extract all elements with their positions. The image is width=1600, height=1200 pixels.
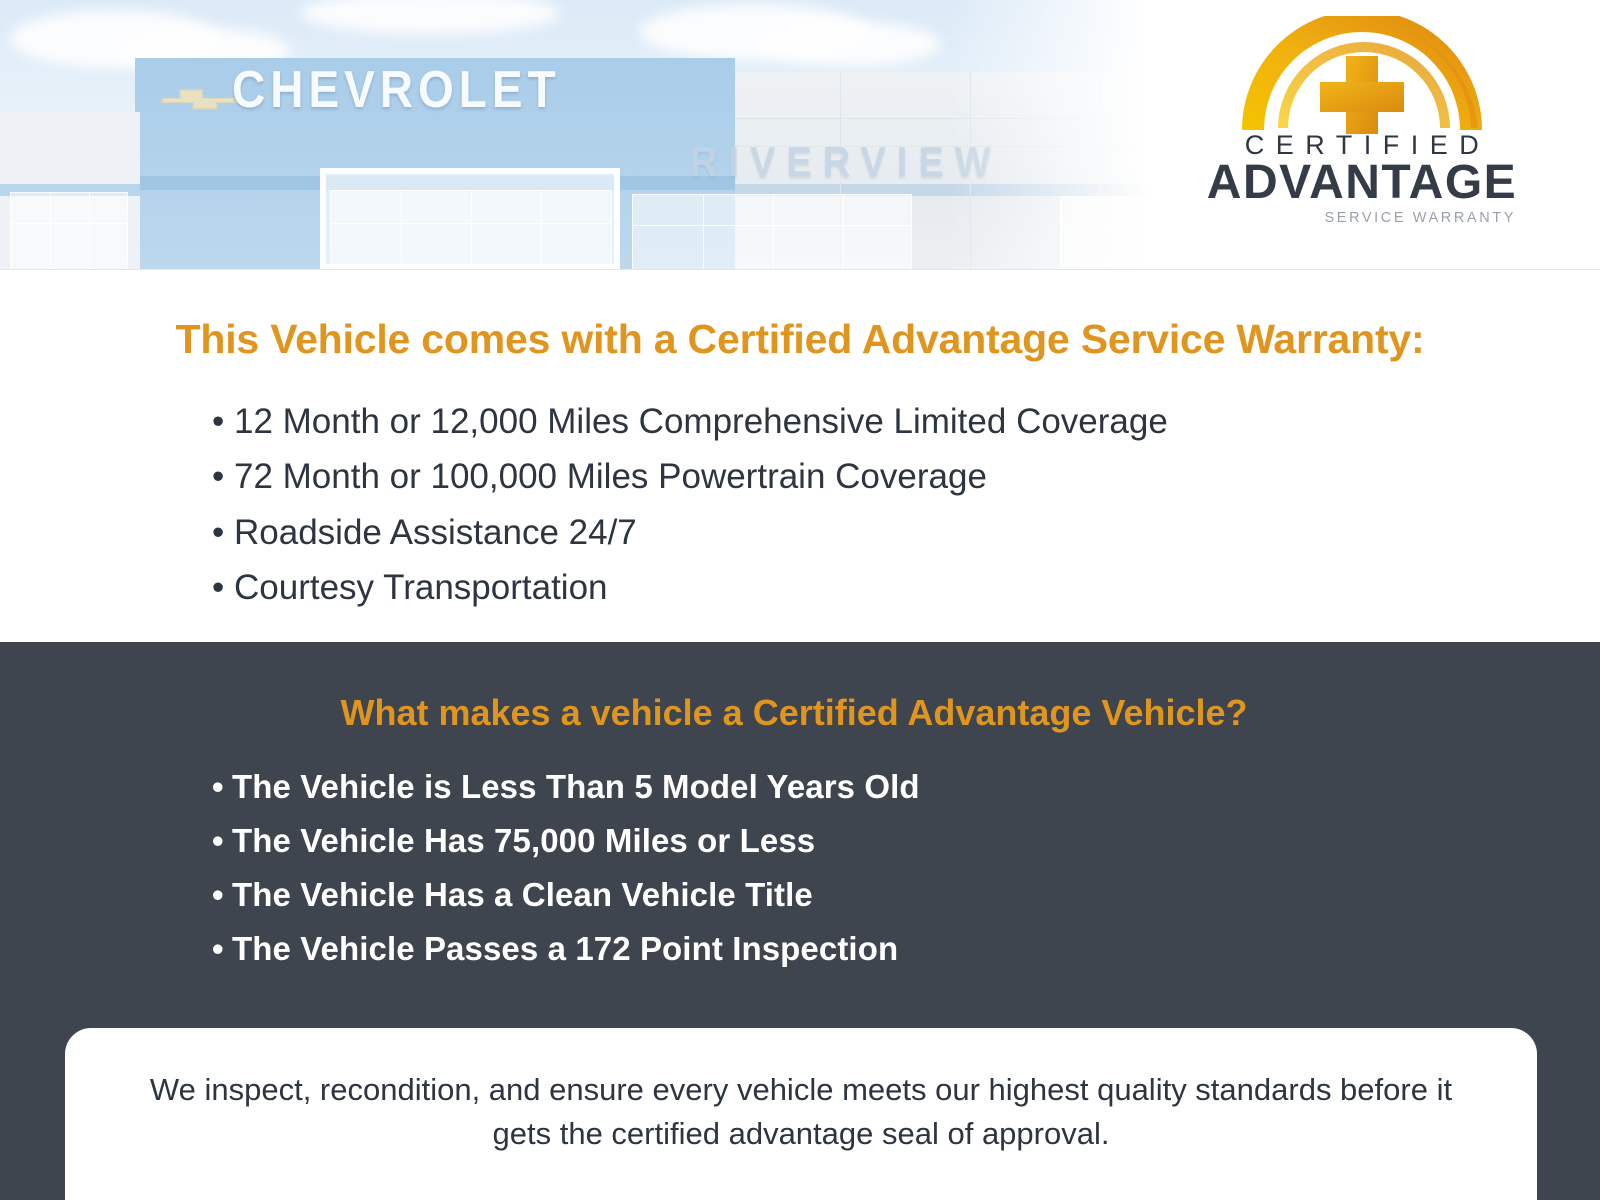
- bullet-icon: •: [212, 868, 232, 922]
- list-item: • Courtesy Transportation: [212, 560, 1168, 615]
- bullet-icon: •: [212, 922, 232, 976]
- list-item: • The Vehicle Passes a 172 Point Inspect…: [212, 922, 920, 976]
- bullet-icon: •: [212, 760, 232, 814]
- logo-service-warranty-text: SERVICE WARRANTY: [1202, 210, 1522, 226]
- list-item-label: The Vehicle Has a Clean Vehicle Title: [232, 868, 813, 922]
- list-item-label: The Vehicle is Less Than 5 Model Years O…: [232, 760, 920, 814]
- list-item: • Roadside Assistance 24/7: [212, 505, 1168, 560]
- list-item: • The Vehicle Has 75,000 Miles or Less: [212, 814, 920, 868]
- list-item: • 72 Month or 100,000 Miles Powertrain C…: [212, 449, 1168, 504]
- list-item-label: Roadside Assistance 24/7: [234, 505, 637, 560]
- header-banner: CHEVROLET RIVERVIEW: [0, 0, 1600, 270]
- chevrolet-wordmark: CHEVROLET: [232, 59, 561, 119]
- list-item: • The Vehicle Has a Clean Vehicle Title: [212, 868, 920, 922]
- list-item-label: Courtesy Transportation: [234, 560, 608, 615]
- chevrolet-bowtie-icon: [160, 80, 238, 112]
- certified-advantage-page: CHEVROLET RIVERVIEW: [0, 0, 1600, 1200]
- logo-advantage-text: ADVANTAGE: [1202, 159, 1522, 207]
- warranty-headline: This Vehicle comes with a Certified Adva…: [0, 316, 1600, 363]
- bullet-icon: •: [212, 505, 234, 560]
- list-item-label: The Vehicle Passes a 172 Point Inspectio…: [232, 922, 898, 976]
- list-item-label: 12 Month or 12,000 Miles Comprehensive L…: [234, 394, 1168, 449]
- quality-promise-card: We inspect, recondition, and ensure ever…: [65, 1028, 1537, 1200]
- list-item-label: 72 Month or 100,000 Miles Powertrain Cov…: [234, 449, 987, 504]
- bullet-icon: •: [212, 449, 234, 504]
- list-item: • 12 Month or 12,000 Miles Comprehensive…: [212, 394, 1168, 449]
- qualifications-list: • The Vehicle is Less Than 5 Model Years…: [212, 760, 920, 976]
- bullet-icon: •: [212, 814, 232, 868]
- warranty-section: This Vehicle comes with a Certified Adva…: [0, 271, 1600, 642]
- list-item: • The Vehicle is Less Than 5 Model Years…: [212, 760, 920, 814]
- cloud-shape: [760, 22, 940, 66]
- warranty-list: • 12 Month or 12,000 Miles Comprehensive…: [212, 394, 1168, 615]
- quality-promise-text: We inspect, recondition, and ensure ever…: [143, 1068, 1459, 1156]
- bullet-icon: •: [212, 394, 234, 449]
- list-item-label: The Vehicle Has 75,000 Miles or Less: [232, 814, 815, 868]
- arc-plus-icon: [1228, 16, 1496, 134]
- dealership-photo: CHEVROLET RIVERVIEW: [0, 0, 1160, 270]
- qualifications-headline: What makes a vehicle a Certified Advanta…: [0, 692, 1600, 734]
- bullet-icon: •: [212, 560, 234, 615]
- riverview-wordmark: RIVERVIEW: [690, 140, 1002, 187]
- certified-advantage-logo: CERTIFIED ADVANTAGE SERVICE WARRANTY: [1202, 16, 1522, 256]
- window-row: [0, 184, 1160, 270]
